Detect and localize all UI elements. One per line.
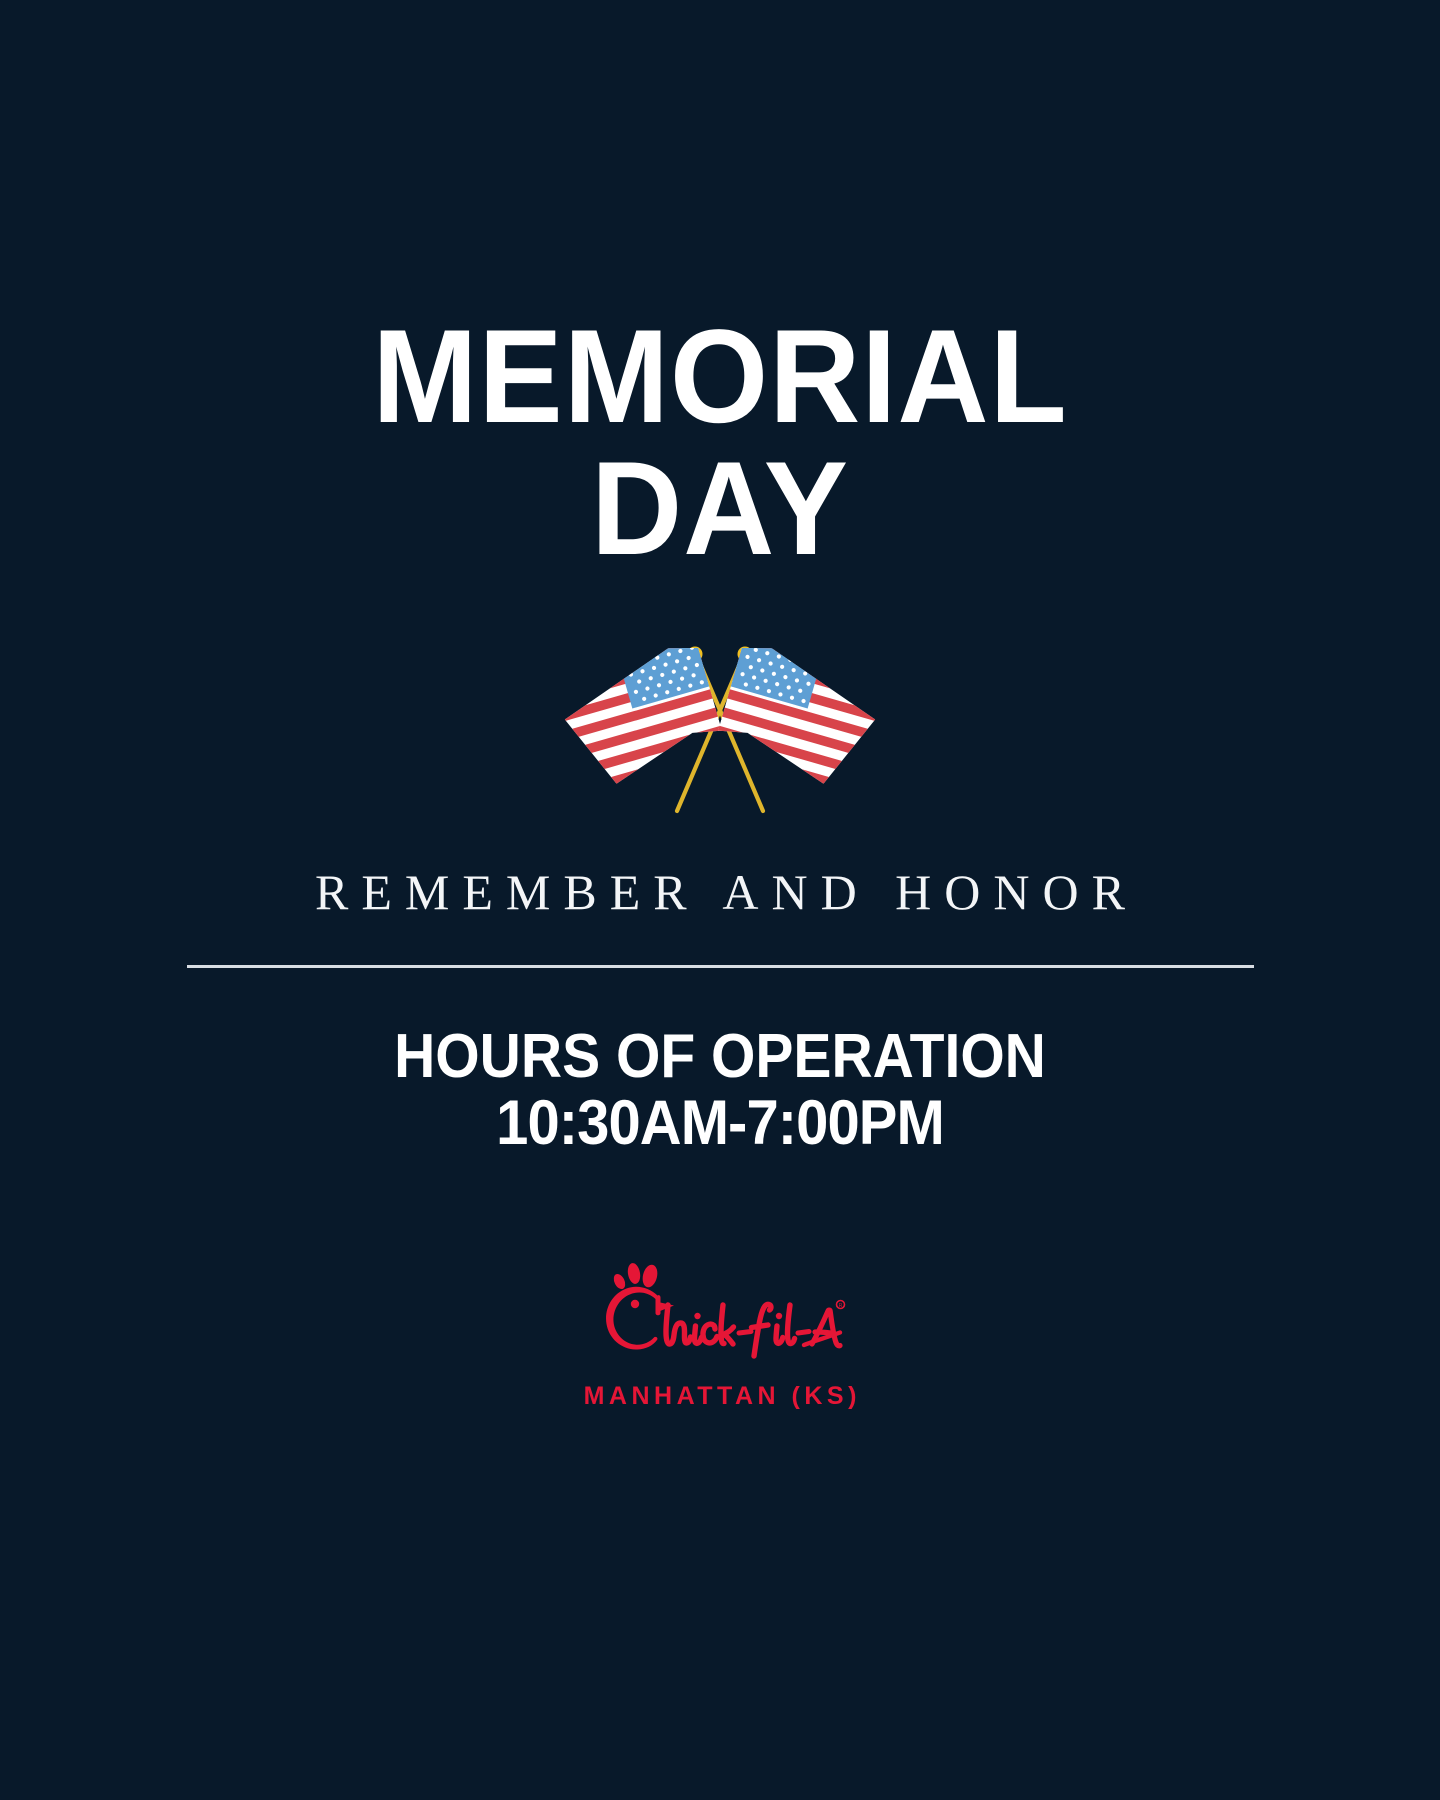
hours-value: 10:30AM-7:00PM	[58, 1090, 1383, 1157]
headline-line-2: DAY	[36, 448, 1404, 572]
crossed-usa-flags-icon	[555, 629, 885, 829]
flag-right	[691, 629, 885, 811]
divider	[187, 965, 1254, 968]
tagline: REMEMBER AND HONOR	[302, 863, 1138, 921]
svg-text:R: R	[839, 1303, 843, 1309]
brand-logo: R MANHATTAN (KS)	[579, 1261, 861, 1411]
headline-line-1: MEMORIAL	[36, 316, 1404, 440]
flag-left	[555, 629, 749, 811]
memorial-day-poster: MEMORIAL DAY	[0, 0, 1440, 1800]
store-location: MANHATTAN (KS)	[579, 1382, 861, 1411]
hours-of-operation: HOURS OF OPERATION 10:30AM-7:00PM	[0, 1024, 1440, 1156]
page-title: MEMORIAL DAY	[0, 316, 1440, 571]
hours-label: HOURS OF OPERATION	[58, 1024, 1383, 1090]
chick-fil-a-logo-icon: R	[594, 1261, 846, 1373]
